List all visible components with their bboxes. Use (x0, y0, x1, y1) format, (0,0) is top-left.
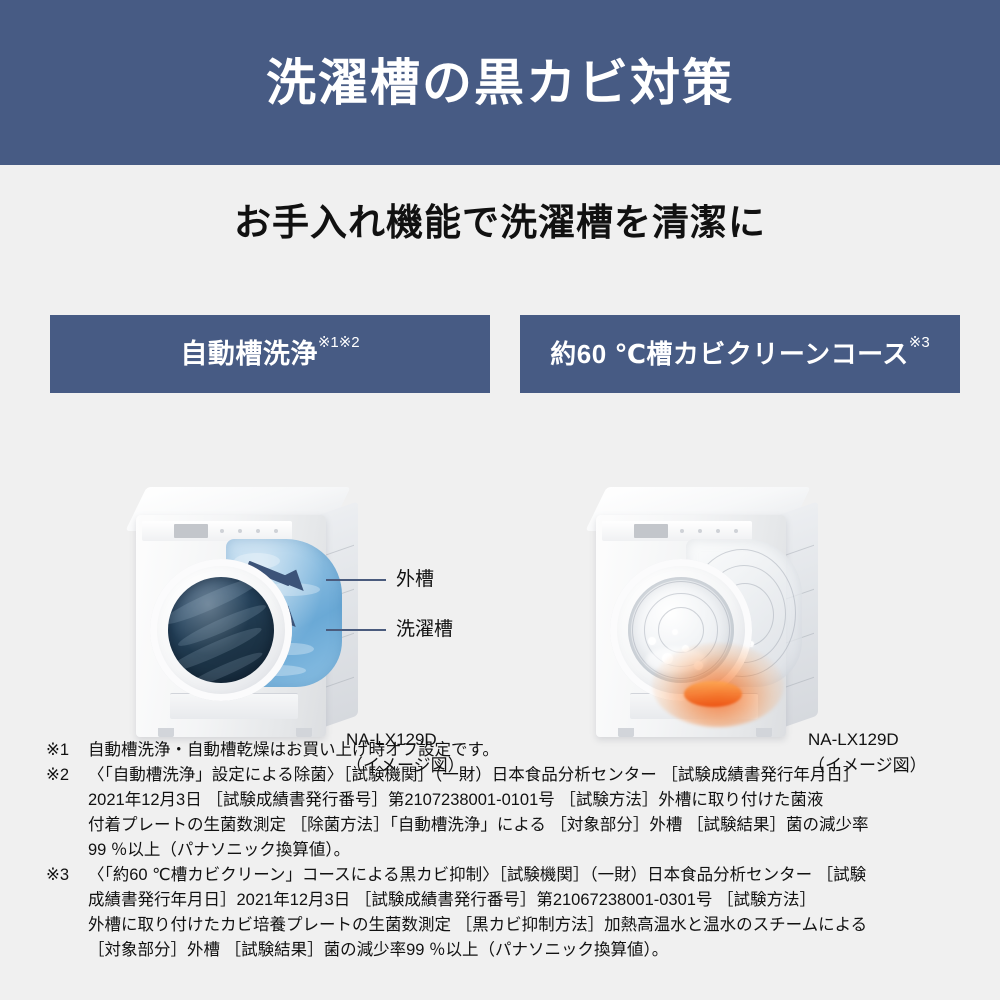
footnote-item: ※1 自動槽洗浄・自動槽乾燥はお買い上げ時オフ設定です。 (46, 738, 966, 763)
footnote-body: 〈「約60 ℃槽カビクリーン」コースによる黒カビ抑制〉［試験機関］（一財）日本食… (88, 863, 966, 963)
footnote-line: 99 ％以上（パナソニック換算値）。 (88, 838, 966, 863)
feature-label-text: 約60 ℃槽カビクリーンコース※3 (550, 341, 929, 367)
washer-foot (756, 728, 772, 737)
washer-display (634, 524, 668, 538)
feature-column-auto-tub-wash: 自動槽洗浄※1※2 (50, 315, 490, 715)
header-banner: 洗濯槽の黒カビ対策 (0, 0, 1000, 165)
washing-machine-illustration-left (128, 481, 364, 749)
feature-column-60c-mold-clean-course: 約60 ℃槽カビクリーンコース※3 (520, 315, 960, 715)
washer-control-buttons (220, 529, 278, 533)
footnote-line: 〈「自動槽洗浄」設定による除菌〉［試験機関］（一財）日本食品分析センター ［試験… (88, 763, 966, 788)
footnote-item: ※2 〈「自動槽洗浄」設定による除菌〉［試験機関］（一財）日本食品分析センター … (46, 763, 966, 863)
footnote-body: 自動槽洗浄・自動槽乾燥はお買い上げ時オフ設定です。 (88, 738, 966, 763)
washer-foot (158, 728, 174, 737)
footnote-line: 付着プレートの生菌数測定 ［除菌方法］「自動槽洗浄」による ［対象部分］外槽 ［… (88, 813, 966, 838)
footnote-marker: ※2 (46, 763, 88, 788)
feature-columns: 自動槽洗浄※1※2 (0, 315, 1000, 715)
washer-display (174, 524, 208, 538)
washing-machine-illustration-right (588, 481, 824, 749)
illustration-60c-mold-clean-course: NA-LX129D （イメージ図） (520, 393, 960, 715)
footnote-body: 〈「自動槽洗浄」設定による除菌〉［試験機関］（一財）日本食品分析センター ［試験… (88, 763, 966, 863)
subtitle-heading: お手入れ機能で洗濯槽を清潔に (0, 200, 1000, 246)
page-title: 洗濯槽の黒カビ対策 (266, 58, 734, 108)
wash-tub-drum (168, 577, 274, 683)
feature-label-superscript: ※1※2 (318, 334, 360, 351)
callout-leader-line (326, 579, 386, 581)
callout-label-outer-tub: 外槽 (396, 570, 434, 589)
footnote-line: 〈「約60 ℃槽カビクリーン」コースによる黒カビ抑制〉［試験機関］（一財）日本食… (88, 863, 966, 888)
feature-label-text: 自動槽洗浄※1※2 (180, 341, 359, 368)
feature-label-box-60c-mold-clean-course: 約60 ℃槽カビクリーンコース※3 (520, 315, 960, 393)
footnote-line: 外槽に取り付けたカビ培養プレートの生菌数測定 ［黒カビ抑制方法］加熱高温水と温水… (88, 913, 966, 938)
washer-door-ring (150, 559, 292, 701)
footnote-line: 自動槽洗浄・自動槽乾燥はお買い上げ時オフ設定です。 (88, 738, 966, 763)
feature-label-superscript: ※3 (909, 334, 930, 351)
washer-foot (618, 728, 634, 737)
footnote-line: ［対象部分］外槽 ［試験結果］菌の減少率99 ％以上（パナソニック換算値）。 (88, 938, 966, 963)
feature-label-box-auto-tub-wash: 自動槽洗浄※1※2 (50, 315, 490, 393)
callout-outer-tub: 外槽 (326, 570, 434, 589)
footnote-item: ※3 〈「約60 ℃槽カビクリーン」コースによる黒カビ抑制〉［試験機関］（一財）… (46, 863, 966, 963)
illustration-auto-tub-wash: 外槽 洗濯槽 NA-LX129D （イメージ図） (50, 393, 490, 715)
footnote-marker: ※3 (46, 863, 88, 888)
footnote-line: 成績書発行年月日］2021年12月3日 ［試験成績書発行番号］第21067238… (88, 888, 966, 913)
footnote-line: 2021年12月3日 ［試験成績書発行番号］第2107238001-0101号 … (88, 788, 966, 813)
washer-control-buttons (680, 529, 738, 533)
footnote-marker: ※1 (46, 738, 88, 763)
heater-element-glow (684, 681, 742, 707)
footnotes-block: ※1 自動槽洗浄・自動槽乾燥はお買い上げ時オフ設定です。 ※2 〈「自動槽洗浄」… (46, 738, 966, 963)
washer-foot (296, 728, 312, 737)
callout-label-wash-tub: 洗濯槽 (396, 620, 453, 639)
callout-leader-line (326, 629, 386, 631)
callout-wash-tub: 洗濯槽 (326, 620, 453, 639)
